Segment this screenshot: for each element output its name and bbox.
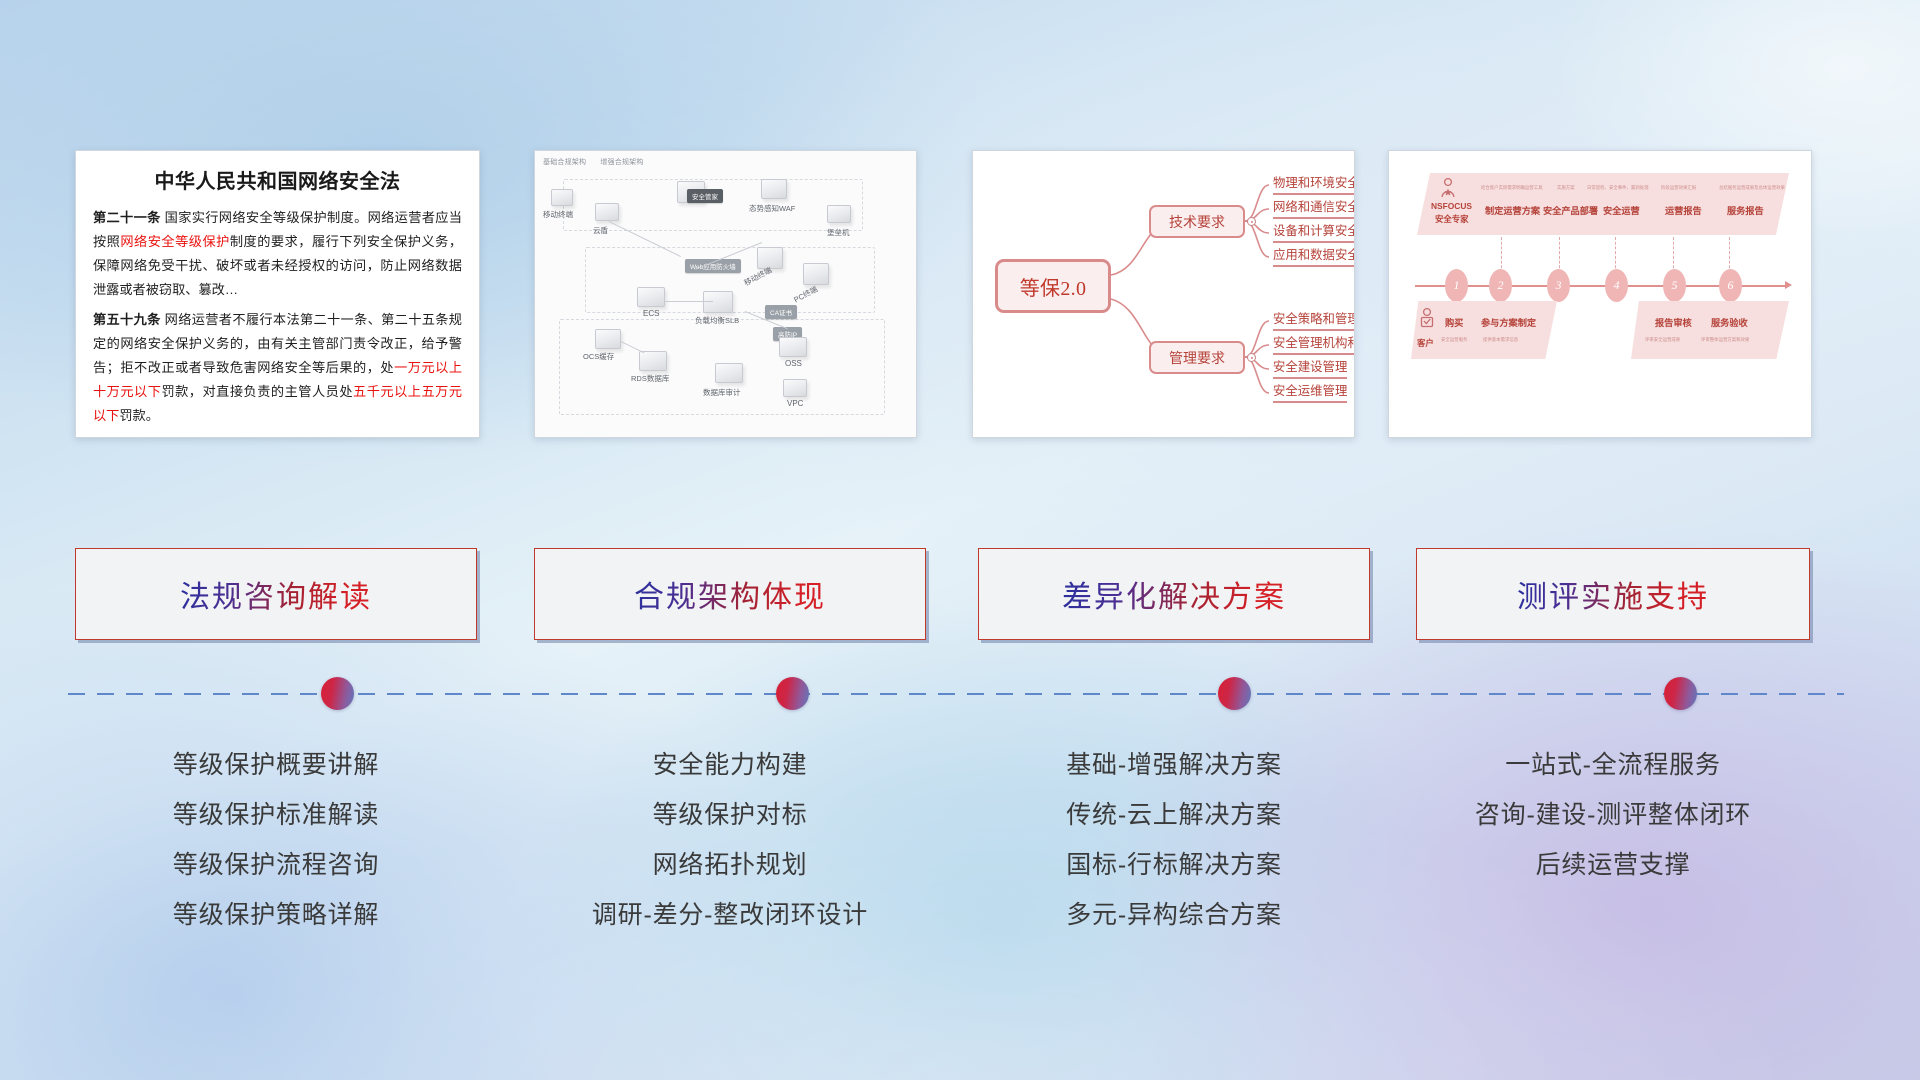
timeline-step-4[interactable]: 4 <box>1605 269 1628 302</box>
customer-label: 客户 <box>1417 337 1434 349</box>
detail-column-2: 安全能力构建 等级保护对标 网络拓扑规划 调研-差分-整改闭环设计 <box>534 740 926 940</box>
bottom-step-4-title: 服务验收 <box>1711 315 1748 329</box>
headline-box-regulation-consulting[interactable]: 法规咨询解读 <box>75 548 477 640</box>
node-box-situational <box>761 179 787 199</box>
list-item: 多元-异构综合方案 <box>978 890 1370 940</box>
bottom-step-1-sub: 安全运营服务 <box>1441 337 1467 343</box>
label-ca-cert: CA证书 <box>765 305 797 319</box>
label-security-tag: 安全管家 <box>687 189 723 203</box>
headline-label-1: 法规咨询解读 <box>180 572 372 616</box>
mindmap-leaf-construction: 安全建设管理 <box>1273 357 1347 379</box>
timeline-connector <box>68 693 1844 695</box>
top-step-2-sub: 实施方案 <box>1557 185 1575 191</box>
list-item: 咨询-建设-测评整体闭环 <box>1416 790 1810 840</box>
architecture-header-right: 增强合规架构 <box>600 159 643 166</box>
top-step-3-sub: 日常巡检、安全事件、漏洞处理 <box>1587 185 1648 191</box>
node-box-aux <box>551 189 573 206</box>
mindmap-leaf-app-data: 应用和数据安全 <box>1273 245 1355 267</box>
list-item: 等级保护流程咨询 <box>75 840 477 890</box>
card-mindmap-dengbao[interactable]: 等保2.0 技术要求 物理和环境安全 网络和通信安全 设备和计算安全 应用和数据… <box>972 150 1355 438</box>
architecture-diagram: 基础合规架构 增强合规架构 安全管家 态势感知WAF 云盾 堡垒机 移动终端 移… <box>535 151 916 437</box>
list-item: 国标-行标解决方案 <box>978 840 1370 890</box>
top-step-2-title: 安全产品部署 <box>1543 203 1598 217</box>
bottom-step-2-title: 参与方案制定 <box>1481 315 1536 329</box>
connector-line <box>665 301 713 302</box>
label-aux: 移动终端 <box>543 209 573 220</box>
top-step-1-title: 制定运营方案 <box>1485 203 1540 217</box>
node-slb <box>703 291 733 313</box>
timeline-tick <box>1559 237 1560 273</box>
list-item: 调研-差分-整改闭环设计 <box>534 890 926 940</box>
list-item: 基础-增强解决方案 <box>978 740 1370 790</box>
mindmap-leaf-operations: 安全运维管理 <box>1273 381 1347 403</box>
article-21-label: 第二十一条 <box>93 210 161 225</box>
node-mobile-terminal <box>757 247 783 269</box>
bottom-step-3-sub: 评审安全运营成果 <box>1645 337 1680 343</box>
node-oss <box>779 337 807 357</box>
timeline-step-3[interactable]: 3 <box>1547 269 1570 302</box>
law-article-21: 第二十一条 国家实行网络安全等级保护制度。网络运营者应当按照网络安全等级保护制度… <box>93 206 462 302</box>
bottom-step-3-title: 报告审核 <box>1655 315 1692 329</box>
timeline-tick <box>1501 237 1502 273</box>
headline-box-differentiated-solution[interactable]: 差异化解决方案 <box>978 548 1370 640</box>
law-document: 中华人民共和国网络安全法 第二十一条 国家实行网络安全等级保护制度。网络运营者应… <box>76 151 479 438</box>
timeline-step-1[interactable]: 1 <box>1445 269 1468 302</box>
card-nsfocus-timeline[interactable]: NSFOCUS 安全专家 结合客户实际需求明确运营工具 制定运营方案 实施方案 … <box>1388 150 1812 438</box>
card-cybersecurity-law[interactable]: 中华人民共和国网络安全法 第二十一条 国家实行网络安全等级保护制度。网络运营者应… <box>75 150 480 438</box>
bottom-step-4-sub: 评审整体运营方案和效果 <box>1701 337 1749 343</box>
article-59-text-b: 罚款，对直接负责的主管人员处 <box>161 384 353 399</box>
top-step-5-title: 服务报告 <box>1727 203 1764 217</box>
node-vpc <box>783 379 807 397</box>
label-cloud-shield: 云盾 <box>593 225 608 236</box>
list-item: 一站式-全流程服务 <box>1416 740 1810 790</box>
list-item: 传统-云上解决方案 <box>978 790 1370 840</box>
label-db-audit: 数据库审计 <box>703 387 741 398</box>
list-item: 后续运营支撑 <box>1416 840 1810 890</box>
timeline-tick <box>1729 237 1730 273</box>
article-59-label: 第五十九条 <box>93 312 161 327</box>
expert-label-line1: NSFOCUS <box>1431 201 1472 211</box>
node-box-bastion <box>827 205 851 223</box>
thumbnail-card-row: 中华人民共和国网络安全法 第二十一条 国家实行网络安全等级保护制度。网络运营者应… <box>0 150 1920 440</box>
node-db-audit <box>715 363 743 383</box>
top-step-5-sub: 总结服务运营成果及总体运营效果 <box>1719 185 1785 191</box>
node-ecs <box>637 287 665 307</box>
mindmap-leaf-policy: 安全策略和管理制度 <box>1273 309 1355 331</box>
label-vpc: VPC <box>787 399 803 408</box>
article-59-text-c: 罚款。 <box>119 408 159 423</box>
timeline-node-2[interactable] <box>776 677 809 710</box>
timeline-band-bottom-right <box>1631 301 1789 359</box>
security-expert-icon <box>1439 177 1457 199</box>
top-step-4-sub: 阶段运营效果汇报 <box>1661 185 1696 191</box>
detail-column-1: 等级保护概要讲解 等级保护标准解读 等级保护流程咨询 等级保护策略详解 <box>75 740 477 940</box>
timeline-arrow-icon <box>1785 281 1792 289</box>
bottom-step-2-sub: 提供基本需求信息 <box>1483 337 1518 343</box>
label-ocs: OCS缓存 <box>583 351 614 362</box>
top-step-1-sub: 结合客户实际需求明确运营工具 <box>1481 185 1542 191</box>
bottom-step-1-title: 购买 <box>1445 315 1463 329</box>
mindmap-branch-technical: 技术要求 <box>1149 205 1245 238</box>
timeline-node-3[interactable] <box>1218 677 1251 710</box>
mindmap-leaf-org-people: 安全管理机构和人员 <box>1273 333 1355 355</box>
node-ocs <box>595 329 621 349</box>
mindmap-expand-icon-management[interactable] <box>1247 353 1256 362</box>
label-rds: RDS数据库 <box>631 373 669 384</box>
headline-label-3: 差异化解决方案 <box>1062 572 1286 616</box>
customer-icon <box>1419 307 1435 333</box>
list-item: 安全能力构建 <box>534 740 926 790</box>
label-situational: 态势感知WAF <box>749 203 795 214</box>
list-item: 等级保护策略详解 <box>75 890 477 940</box>
headline-box-compliance-architecture[interactable]: 合规架构体现 <box>534 548 926 640</box>
timeline-step-6[interactable]: 6 <box>1719 269 1742 302</box>
nsfocus-timeline: NSFOCUS 安全专家 结合客户实际需求明确运营工具 制定运营方案 实施方案 … <box>1389 151 1811 437</box>
mindmap: 等保2.0 技术要求 物理和环境安全 网络和通信安全 设备和计算安全 应用和数据… <box>973 151 1354 437</box>
top-step-4-title: 运营报告 <box>1665 203 1702 217</box>
node-rds <box>639 351 667 371</box>
list-item: 等级保护标准解读 <box>75 790 477 840</box>
node-box-cloud-shield <box>595 203 619 221</box>
architecture-header-left: 基础合规架构 <box>543 159 586 166</box>
label-oss: OSS <box>785 359 802 368</box>
timeline-tick <box>1615 237 1616 273</box>
headline-box-assessment-support[interactable]: 测评实施支持 <box>1416 548 1810 640</box>
mindmap-leaf-network-comm: 网络和通信安全 <box>1273 197 1355 219</box>
law-title: 中华人民共和国网络安全法 <box>93 165 462 194</box>
timeline-step-2[interactable]: 2 <box>1489 269 1512 302</box>
headline-label-2: 合规架构体现 <box>634 572 826 616</box>
detail-column-4: 一站式-全流程服务 咨询-建设-测评整体闭环 后续运营支撑 <box>1416 740 1810 890</box>
expert-label-line2: 安全专家 <box>1435 213 1469 225</box>
list-item: 等级保护概要讲解 <box>75 740 477 790</box>
timeline-node-4[interactable] <box>1664 677 1697 710</box>
article-21-highlight: 网络安全等级保护 <box>120 234 229 249</box>
label-slb: 负载均衡SLB <box>695 315 739 326</box>
card-cloud-architecture[interactable]: 基础合规架构 增强合规架构 安全管家 态势感知WAF 云盾 堡垒机 移动终端 移… <box>534 150 917 438</box>
list-item: 等级保护对标 <box>534 790 926 840</box>
timeline-node-1[interactable] <box>321 677 354 710</box>
detail-column-3: 基础-增强解决方案 传统-云上解决方案 国标-行标解决方案 多元-异构综合方案 <box>978 740 1370 940</box>
headline-row: 法规咨询解读 合规架构体现 差异化解决方案 测评实施支持 <box>0 548 1920 640</box>
architecture-header: 基础合规架构 增强合规架构 <box>543 157 656 167</box>
timeline-tick <box>1673 237 1674 273</box>
node-pc-terminal <box>803 263 829 285</box>
headline-label-4: 测评实施支持 <box>1517 572 1709 616</box>
mindmap-leaf-physical-env: 物理和环境安全 <box>1273 173 1355 195</box>
law-article-59: 第五十九条 网络运营者不履行本法第二十一条、第二十五条规定的网络安全保护义务的，… <box>93 308 462 428</box>
mindmap-branch-management: 管理要求 <box>1149 341 1245 374</box>
top-step-3-title: 安全运营 <box>1603 203 1640 217</box>
timeline-step-5[interactable]: 5 <box>1663 269 1686 302</box>
mindmap-leaf-device-compute: 设备和计算安全 <box>1273 221 1355 243</box>
list-item: 网络拓扑规划 <box>534 840 926 890</box>
mindmap-expand-icon-technical[interactable] <box>1247 217 1256 226</box>
label-bastion: 堡垒机 <box>827 227 850 238</box>
label-ecs: ECS <box>643 309 659 318</box>
